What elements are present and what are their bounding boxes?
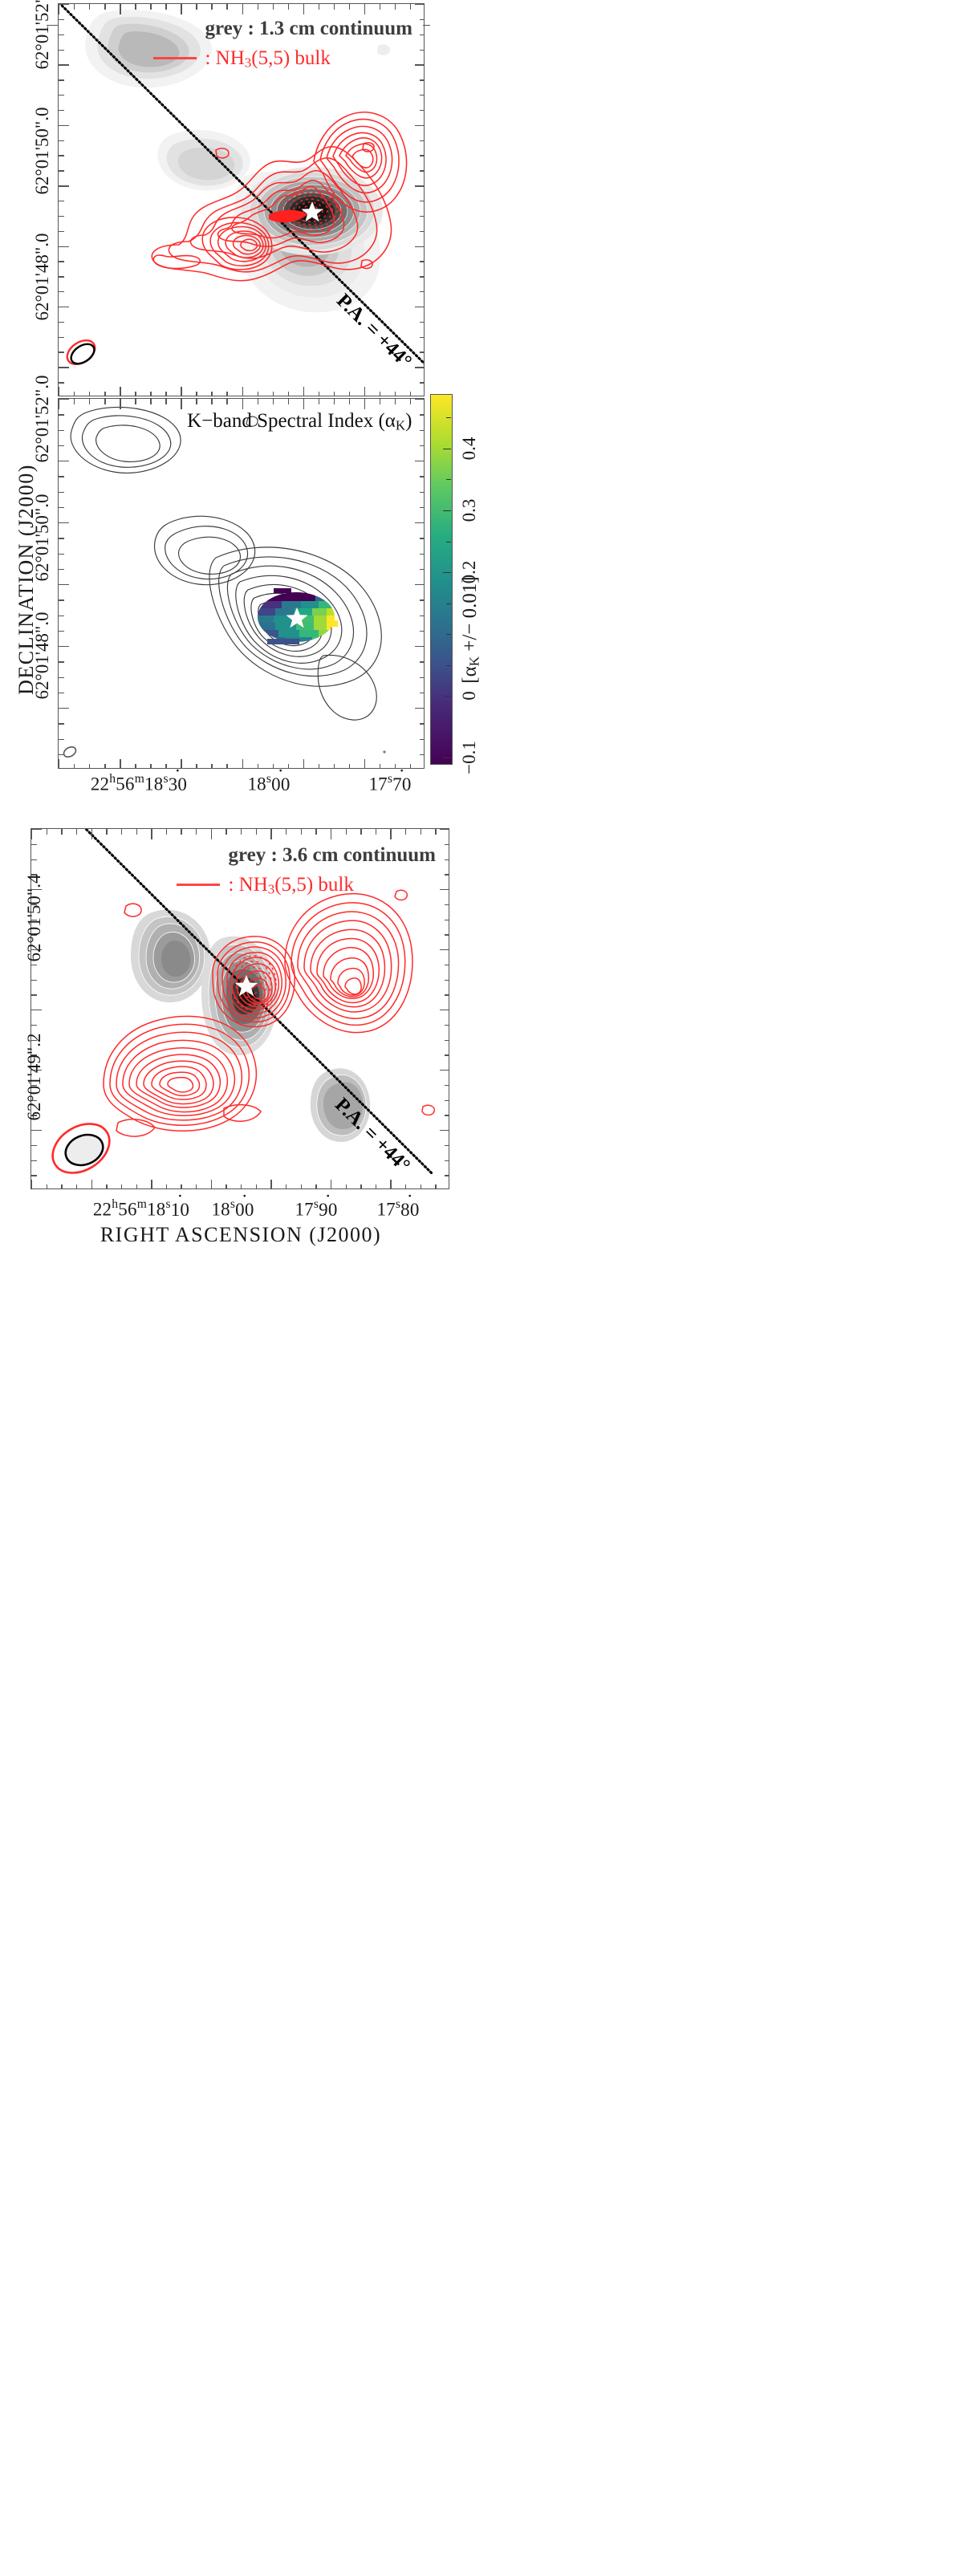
xtick-bottom-3: 17s80 (376, 1197, 419, 1221)
xtick-mark-bottom (165, 764, 166, 769)
xtick-mark-top (435, 829, 436, 835)
ytick-mark-left (59, 661, 64, 662)
xtick-mark-bottom (288, 764, 289, 769)
xtick-mark-bottom (196, 764, 197, 769)
xtick-mark-top (376, 829, 376, 835)
xtick-mark-bottom (211, 1180, 212, 1189)
xtick-s-sup: s (388, 772, 392, 786)
xtick-mark-top (395, 4, 396, 10)
ytick-mark-right (445, 859, 449, 860)
colorbar-minor-tick (446, 727, 451, 728)
ytick-mark-left (59, 754, 64, 755)
xtick-mark-bottom (121, 1184, 122, 1189)
colorbar-minor-tick (446, 417, 451, 418)
ytick-mark-left (59, 307, 69, 307)
cbtitle-post: +/− 0.01] (459, 576, 481, 656)
xtick-mark-top (121, 829, 122, 835)
ytick-mark-left (59, 125, 69, 126)
colorbar-tick (443, 758, 451, 758)
ytick-mark-right (420, 276, 425, 277)
ytick-mark-right (420, 19, 425, 20)
xtick-decimals: 10 (171, 1200, 189, 1220)
xtick-decimals: 30 (169, 774, 187, 794)
ytick-mark-left (59, 723, 64, 724)
ytick-top-1: 62°01'50".0 (32, 108, 53, 195)
ytick-mark-right (445, 1085, 449, 1086)
ytick-mark-left (59, 246, 69, 247)
xtick-mark-top (104, 399, 105, 404)
xtick-mark-top (380, 399, 380, 404)
ytick-mark-left (31, 829, 42, 830)
ytick-bottom-0: 62°01'50".4 (24, 875, 45, 962)
legend-grey-label: grey : 3.6 cm continuum (228, 840, 436, 870)
legend-top: grey : 1.3 cm continuum : NH3(5,5) bulk (153, 14, 412, 73)
ytick-bottom-1: 62°01'49".2 (24, 1034, 45, 1121)
ytick-mark-right (415, 4, 425, 5)
colorbar-minor-tick (446, 603, 451, 604)
ytick-mark-right (415, 185, 425, 186)
ytick-mark-right (445, 1115, 449, 1115)
ytick-mark-right (440, 1130, 449, 1131)
ytick-mark-left (59, 430, 64, 431)
ytick-mark (47, 25, 58, 26)
ytick-mark-right (420, 291, 425, 292)
xtick-mark-top (106, 829, 107, 835)
beam-ellipses-top (63, 335, 99, 369)
xtick-mid-0: 22h56m18s30 (91, 772, 187, 795)
xtick-mark-top (256, 829, 257, 835)
ytick-mark-left (31, 859, 37, 860)
ytick-mark-right (420, 261, 425, 262)
legend-row-red: : NH3(5,5) bulk (177, 870, 436, 900)
xtick-mark-bottom (256, 1184, 257, 1189)
xtick-mark-bottom (226, 1184, 226, 1189)
xtick-mark-top (331, 829, 331, 839)
xtick-mark-top (380, 4, 380, 10)
xtick-hours: 22 (93, 1200, 112, 1220)
ytick-mark-left (59, 476, 64, 477)
xtick-mark-bottom (76, 1184, 77, 1189)
xtick-mark-bottom (364, 759, 365, 769)
xtick-mark-top (61, 829, 62, 835)
ytick-mark-right (420, 35, 425, 35)
ytick-mark-left (59, 569, 64, 570)
xtick-mark-bottom (346, 1184, 347, 1189)
xtick-mark-top (226, 399, 227, 404)
xtick-mark-top (334, 4, 335, 10)
xtick-mark-bottom (349, 764, 350, 769)
ytick-mark-left (59, 599, 64, 600)
xtick-mark-top (89, 4, 90, 10)
ytick-mark-left (31, 1025, 37, 1026)
ytick-mark-right (415, 307, 425, 307)
ytick-mark-right (420, 661, 425, 662)
legend-red-post: (5,5) bulk (274, 874, 354, 896)
ytick-mark-left (59, 140, 64, 141)
panel-title-text: K−band Spectral Index (α (187, 410, 396, 432)
ytick-mark-right (445, 1145, 449, 1146)
ytick-mark-right (440, 829, 449, 830)
xtick-mark-bottom (150, 764, 151, 769)
ytick-mark-right (415, 584, 425, 585)
xtick-mark-bottom (196, 1184, 197, 1189)
xtick-mark-top (91, 829, 92, 839)
axis-title-right-ascension: RIGHT ASCENSION (J2000) (100, 1223, 381, 1247)
legend-red-label: : NH3(5,5) bulk (228, 870, 353, 900)
ytick-mark-left (31, 844, 37, 845)
xtick-decimals: 00 (271, 774, 290, 794)
colorbar-group: 0.4 0.3 0.2 0 −0.1 [αK +/− 0.01] (429, 389, 481, 790)
xtick-s-sup: s (230, 1197, 235, 1211)
ytick-mark-right (420, 322, 425, 323)
ytick-mark-left (31, 1010, 42, 1010)
legend-row-red: : NH3(5,5) bulk (153, 43, 412, 73)
ytick-mark-right (420, 351, 425, 352)
colorbar-minor-tick (446, 634, 451, 635)
ytick-mark-right (415, 399, 425, 400)
ytick-mark-left (31, 1175, 37, 1176)
black-contours-mid (71, 407, 381, 720)
xtick-mark-top (319, 4, 319, 10)
xtick-mark-top (196, 399, 197, 404)
ytick-mark-left (59, 216, 64, 217)
xtick-seconds: 17 (295, 1200, 313, 1220)
ytick-mark-right (420, 50, 425, 51)
xtick-mid-2: 17s70 (368, 772, 411, 795)
ytick-mark-left (31, 1130, 42, 1131)
xtick-decimals: 70 (392, 774, 411, 794)
ytick-mark-left (59, 337, 64, 338)
ytick-mark-right (415, 646, 425, 647)
ytick-mark-right (415, 461, 425, 461)
xtick-mark-top (273, 399, 274, 404)
ytick-mark-right (445, 874, 449, 875)
xtick-s-sup: s (165, 1197, 170, 1211)
ytick-mark-left (31, 1145, 37, 1146)
xtick-mark-top (211, 4, 212, 10)
ytick-mark-left (59, 739, 64, 740)
xtick-mark-top (303, 399, 304, 409)
xtick-mark-top (270, 829, 271, 839)
xtick-mark-top (241, 829, 242, 835)
ytick-mark-right (445, 920, 449, 920)
xtick-mark-top (288, 399, 289, 404)
xtick-mark-top (166, 829, 167, 835)
ytick-mark-left (59, 155, 64, 156)
ytick-mark-left (59, 231, 64, 232)
xtick-seconds: 18 (147, 1200, 165, 1220)
xtick-mark-top (181, 829, 181, 835)
ytick-mark-right (445, 1040, 449, 1041)
ytick-mark-left (59, 693, 64, 693)
ytick-mark-right (445, 1054, 449, 1055)
ytick-mark-left (59, 646, 69, 647)
ytick-mark-left (59, 291, 64, 292)
ytick-mark-right (420, 723, 425, 724)
ytick-mark-right (445, 904, 449, 905)
xtick-mark-top (165, 4, 166, 10)
ytick-mark-left (59, 261, 64, 262)
xtick-mark-top (319, 399, 319, 404)
xtick-mark-bottom (315, 1184, 316, 1189)
ytick-mark-right (420, 216, 425, 217)
plot-frame-top: grey : 1.3 cm continuum : NH3(5,5) bulk … (58, 3, 425, 396)
xtick-mark-top (31, 829, 32, 839)
legend-red-post: (5,5) bulk (251, 47, 331, 69)
xtick-m-sup: m (135, 772, 144, 786)
xtick-bottom-2: 17s90 (295, 1197, 337, 1221)
ytick-mark-right (420, 677, 425, 678)
xtick-mark-top (286, 829, 286, 835)
xtick-mark-top (242, 4, 243, 14)
xtick-mark-top (273, 4, 274, 10)
ytick-mark-right (420, 155, 425, 156)
ytick-mark-right (440, 1010, 449, 1010)
xtick-mark-bottom (91, 1180, 92, 1189)
xtick-mark-bottom (376, 1184, 376, 1189)
xtick-mark-bottom (89, 764, 90, 769)
colorbar-axis-title: [αK +/− 0.01] (459, 576, 483, 683)
xtick-mark-bottom (59, 759, 59, 769)
xtick-mark-bottom (380, 764, 380, 769)
xtick-mark-top (405, 829, 406, 835)
xtick-mark-top (421, 829, 421, 835)
xtick-mark-top (74, 399, 75, 404)
ytick-mark-left (59, 322, 64, 323)
plot-frame-bottom: grey : 3.6 cm continuum : NH3(5,5) bulk … (30, 828, 449, 1189)
xtick-mark-top (288, 4, 289, 10)
xtick-bottom-1: 18s00 (211, 1197, 254, 1221)
xtick-mark-top (360, 829, 361, 835)
cbtitle-sub: K (467, 656, 482, 666)
xtick-mark-top (211, 399, 212, 404)
ytick-mark-left (59, 351, 64, 352)
ytick-mark-left (59, 584, 69, 585)
xtick-mark-bottom (135, 764, 136, 769)
xtick-hours: 22 (91, 774, 109, 794)
ytick-mark-right (420, 631, 425, 632)
colorbar-tick (443, 572, 451, 573)
xtick-mark-bottom (166, 1184, 167, 1189)
xtick-mark-bottom (242, 759, 243, 769)
ytick-mark-left (59, 276, 64, 277)
xtick-mark-bottom (421, 1184, 421, 1189)
ytick-mark-left (59, 185, 69, 186)
colorbar-minor-tick (446, 479, 451, 480)
xtick-mark-top (211, 829, 212, 839)
legend-red-line-swatch (177, 884, 220, 885)
xtick-s-sup: s (163, 772, 168, 786)
ytick-mark-right (420, 569, 425, 570)
ytick-mark-right (415, 125, 425, 126)
colorbar-minor-tick (446, 542, 451, 542)
ytick-mark-right (420, 430, 425, 431)
ytick-mark-right (420, 616, 425, 616)
ytick-mark-right (445, 934, 449, 935)
ytick-mark-right (420, 538, 425, 538)
xtick-mark-top (120, 4, 120, 14)
ytick-mark-left (59, 414, 64, 415)
panel-title-mid: K−band Spectral Index (αK) (187, 410, 412, 434)
ytick-mark-right (445, 1025, 449, 1026)
colorbar-tick (443, 449, 451, 449)
xtick-s-sup: s (266, 772, 271, 786)
xtick-mark-bottom (181, 759, 181, 769)
ytick-mark-left (59, 64, 69, 65)
xtick-mark-bottom (395, 764, 396, 769)
ytick-mark-right (415, 708, 425, 709)
xtick-mark-top (334, 399, 335, 404)
colorbar-tick-label-1: 0.3 (459, 499, 480, 522)
beam-ellipses-bottom (43, 1114, 118, 1183)
ytick-mark-right (420, 170, 425, 171)
xtick-mark-bottom (286, 1184, 286, 1189)
ytick-mark-left (59, 492, 64, 493)
ytick-mark-right (420, 95, 425, 95)
axis-title-declination: DECLINATION (J2000) (14, 464, 39, 695)
ytick-mark-right (420, 599, 425, 600)
xtick-seconds: 17 (376, 1200, 395, 1220)
ytick-mid-0: 62°01'52".0 (32, 376, 53, 463)
ytick-mark-right (445, 1160, 449, 1161)
ytick-mark-left (59, 19, 64, 20)
xtick-bottom-0: 22h56m18s10 (93, 1197, 189, 1221)
ytick-mark-right (445, 844, 449, 845)
ytick-top-0: 62°01'52".0 (32, 0, 53, 69)
ytick-mark-right (420, 231, 425, 232)
legend-red-sub: 3 (268, 882, 275, 897)
legend-red-pre: : NH (228, 874, 267, 896)
ytick-mark-left (31, 994, 37, 995)
legend-bottom: grey : 3.6 cm continuum : NH3(5,5) bulk (177, 840, 436, 900)
xtick-mark-top (104, 4, 105, 10)
ytick-mark-right (445, 980, 449, 981)
legend-row-grey: grey : 3.6 cm continuum (177, 840, 436, 870)
xtick-mark-top (150, 4, 151, 10)
plot-frame-mid: K−band Spectral Index (αK) (58, 398, 425, 769)
mid-panel-plot (59, 399, 424, 768)
xtick-mark-top (226, 4, 227, 10)
xtick-seconds: 18 (211, 1200, 230, 1220)
xtick-minutes: 56 (118, 1200, 136, 1220)
xtick-mark-top (151, 829, 152, 839)
xtick-mark-top (196, 4, 197, 10)
ytick-mark-right (420, 140, 425, 141)
grey-contour-mid-clump (158, 130, 250, 191)
ytick-mark-left (59, 367, 69, 368)
small-dot (383, 750, 385, 753)
xtick-mark-top (258, 399, 258, 404)
xtick-decimals: 00 (235, 1200, 254, 1220)
colorbar-tick (443, 510, 451, 511)
xtick-m-sup: m (137, 1197, 147, 1211)
xtick-mark-bottom (226, 764, 227, 769)
ytick-mark-left (59, 382, 64, 383)
ytick-mark-right (415, 522, 425, 523)
xtick-mark-top (74, 4, 75, 10)
ytick-mark-left (59, 170, 64, 171)
xtick-mark-top (89, 399, 90, 404)
ytick-mark-right (440, 889, 449, 890)
xtick-mark-top (120, 399, 120, 409)
ytick-mark-right (415, 246, 425, 247)
xtick-minutes: 56 (116, 774, 134, 794)
ytick-mark-right (420, 554, 425, 555)
xtick-mark-top (59, 4, 59, 14)
cbtitle-pre: [α (459, 666, 481, 683)
ytick-mark-right (445, 994, 449, 995)
legend-red-line-swatch (153, 57, 197, 59)
ytick-mark-left (59, 50, 64, 51)
ytick-mark-right (420, 110, 425, 111)
xtick-mark-bottom (273, 764, 274, 769)
ytick-top-2: 62°01'48".0 (32, 234, 53, 321)
xtick-mark-bottom (74, 764, 75, 769)
ytick-mark-right (420, 739, 425, 740)
colorbar-tick (443, 696, 451, 697)
ytick-mark-left (59, 708, 69, 709)
ytick-mark-right (415, 367, 425, 368)
panel-title-end: ) (405, 410, 412, 432)
ytick-mark-left (59, 507, 64, 508)
xtick-mark-bottom (301, 1184, 302, 1189)
panel-1-3cm-continuum: grey : 1.3 cm continuum : NH3(5,5) bulk … (0, 0, 481, 400)
xtick-mark-top (410, 4, 411, 10)
xtick-decimals: 80 (400, 1200, 419, 1220)
ytick-mark-right (420, 382, 425, 383)
xtick-mark-bottom (334, 764, 335, 769)
xtick-mark-bottom (270, 1180, 271, 1189)
xtick-mark-bottom (61, 1184, 62, 1189)
xtick-mark-bottom (120, 759, 120, 769)
colorbar-tick-label-4: −0.1 (459, 741, 480, 774)
xtick-mark-top (165, 399, 166, 404)
ytick-mark-left (59, 95, 64, 95)
xtick-mark-bottom (435, 1184, 436, 1189)
ytick-mark-left (59, 79, 64, 80)
xtick-mark-top (395, 399, 396, 404)
xtick-mark-top (76, 829, 77, 835)
xtick-seconds: 18 (144, 774, 163, 794)
ytick-mark-left (59, 399, 69, 400)
xtick-mark-top (242, 399, 243, 409)
legend-red-sub: 3 (245, 55, 252, 71)
ytick-mark-right (445, 1100, 449, 1101)
ytick-mark-left (59, 461, 69, 461)
ytick-mark-right (420, 337, 425, 338)
xtick-s-sup: s (396, 1197, 400, 1211)
xtick-s-sup: s (314, 1197, 319, 1211)
xtick-mark-top (364, 399, 365, 409)
xtick-mark-top (59, 399, 59, 409)
xtick-mark-top (410, 399, 411, 404)
xtick-mark-bottom (258, 764, 258, 769)
ytick-mark-right (445, 1175, 449, 1176)
xtick-mark-top (226, 829, 226, 835)
ytick-mark-right (420, 754, 425, 755)
legend-grey-label: grey : 1.3 cm continuum (205, 14, 412, 43)
ytick-mark-right (415, 64, 425, 65)
panel-k-band-spectral-index: K−band Spectral Index (αK) 62°01'52".0 6… (0, 395, 481, 796)
beam-ellipse-mid (62, 745, 77, 759)
ytick-mark-left (59, 110, 64, 111)
xtick-mark-bottom (410, 764, 411, 769)
ytick-mark-left (59, 677, 64, 678)
xtick-mark-bottom (390, 1180, 391, 1189)
ytick-mark-left (59, 631, 64, 632)
ytick-mark-right (440, 1070, 449, 1071)
ytick-mark-left (31, 965, 37, 965)
